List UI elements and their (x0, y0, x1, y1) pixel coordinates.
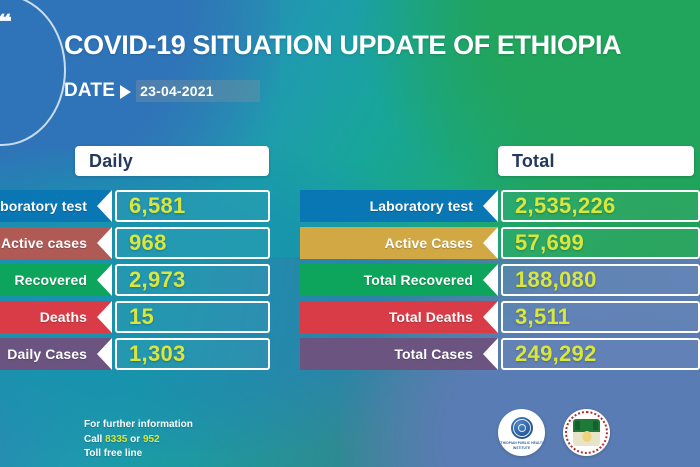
stat-row: Laboratory test2,535,226 (300, 190, 700, 222)
stat-row: Total Cases249,292 (300, 338, 700, 370)
stat-row-label: Total Deaths (300, 301, 497, 333)
crest-icon (573, 419, 600, 446)
hotline-number-1: 8335 (105, 434, 127, 445)
footer-info: For further information Call 8335 or 952… (84, 418, 193, 462)
stat-row-label: Active cases (0, 227, 111, 259)
column-heading-total: Total (498, 146, 694, 176)
stat-row: Total Deaths3,511 (300, 301, 700, 333)
footer-call-prefix: Call (84, 434, 105, 445)
stat-row-value: 15 (115, 301, 270, 333)
stat-row-label: Laboratory test (300, 190, 497, 222)
stat-row: Daily Cases1,303 (0, 338, 270, 370)
stat-row-label: Active Cases (300, 227, 497, 259)
stat-row-value: 3,511 (501, 301, 700, 333)
daily-stats-column: Laboratory test6,581Active cases968Recov… (0, 190, 270, 375)
infographic-canvas: ❝ E ce COVID-19 SITUATION UPDATE OF ETHI… (0, 0, 700, 467)
stat-row-value: 6,581 (115, 190, 270, 222)
stat-row-label: Daily Cases (0, 338, 111, 370)
stat-row-value: 1,303 (115, 338, 270, 370)
date-value: 23-04-2021 (136, 80, 260, 102)
stat-row-label: Laboratory test (0, 190, 111, 222)
stat-row-value: 2,535,226 (501, 190, 700, 222)
ephi-logo-caption: ETHIOPIAN PUBLIC HEALTH INSTITUTE (498, 441, 545, 451)
column-heading-daily-label: Daily (75, 151, 133, 172)
stat-row: Active Cases57,699 (300, 227, 700, 259)
stat-row-label: Recovered (0, 264, 111, 296)
footer-line-3: Toll free line (84, 447, 193, 462)
date-label: DATE (64, 80, 115, 102)
hotline-number-2: 952 (143, 434, 160, 445)
crest-ring-icon (565, 411, 608, 454)
stat-row-label: Total Cases (300, 338, 497, 370)
quote-marks-icon: ❝ (0, 11, 9, 31)
page-title: COVID-19 SITUATION UPDATE OF ETHIOPIA (64, 30, 621, 61)
stat-row-value: 249,292 (501, 338, 700, 370)
ephi-logo: ETHIOPIAN PUBLIC HEALTH INSTITUTE (498, 409, 545, 456)
stat-row: Recovered2,973 (0, 264, 270, 296)
footer-call-middle: or (127, 434, 143, 445)
stat-row: Total Recovered188,080 (300, 264, 700, 296)
play-caret-icon (120, 85, 131, 99)
column-heading-total-label: Total (498, 151, 555, 172)
footer-call-line: Call 8335 or 952 (84, 433, 193, 448)
globe-icon (511, 417, 533, 439)
stat-row-label: Deaths (0, 301, 111, 333)
stat-row: Deaths15 (0, 301, 270, 333)
stat-row: Active cases968 (0, 227, 270, 259)
stat-row-value: 2,973 (115, 264, 270, 296)
ministry-of-health-logo (563, 409, 610, 456)
stat-row-value: 188,080 (501, 264, 700, 296)
footer-line-1: For further information (84, 418, 193, 433)
stat-row-label: Total Recovered (300, 264, 497, 296)
stat-row-value: 57,699 (501, 227, 700, 259)
organization-logos: ETHIOPIAN PUBLIC HEALTH INSTITUTE (498, 409, 610, 456)
total-stats-column: Laboratory test2,535,226Active Cases57,6… (300, 190, 700, 375)
column-heading-daily: Daily (75, 146, 269, 176)
stat-row: Laboratory test6,581 (0, 190, 270, 222)
stat-row-value: 968 (115, 227, 270, 259)
date-row: DATE 23-04-2021 (64, 80, 260, 102)
